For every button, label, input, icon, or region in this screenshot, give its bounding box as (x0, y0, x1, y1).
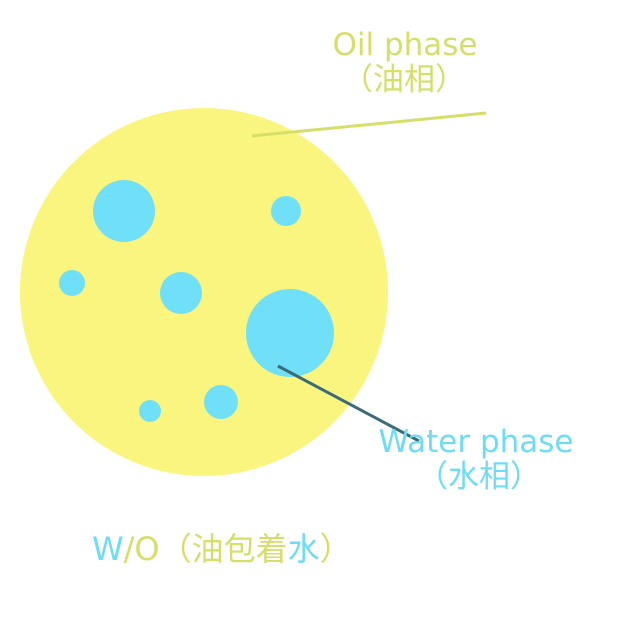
water-droplet-7 (139, 400, 161, 422)
oil-phase-label: Oil phase （油相） (0, 28, 640, 97)
oil-leader-line (252, 113, 486, 136)
water-droplet-2 (271, 196, 301, 226)
caption-segment-w: W (92, 530, 124, 568)
water-phase-label-line2: （水相） (0, 460, 640, 495)
caption-segment-slash-o: /O (124, 530, 160, 568)
water-droplet-6 (204, 385, 238, 419)
oil-phase-label-line2: （油相） (0, 63, 640, 98)
caption-segment-water: 水 (288, 530, 320, 568)
oil-phase-label-line1: Oil phase (0, 28, 640, 63)
water-phase-label-line1: Water phase (0, 425, 640, 460)
diagram-canvas: Oil phase （油相） Water phase （水相） W/O（油包着水… (0, 0, 640, 640)
emulsion-type-caption: W/O（油包着水） (0, 532, 640, 568)
water-droplet-3 (59, 270, 85, 296)
water-droplet-1 (93, 180, 155, 242)
water-droplet-4 (160, 272, 202, 314)
caption-segment-oil-wrap: （油包着 (160, 530, 288, 568)
water-phase-label: Water phase （水相） (0, 425, 640, 494)
water-droplet-5 (246, 289, 334, 377)
caption-segment-close-paren: ） (320, 530, 352, 568)
